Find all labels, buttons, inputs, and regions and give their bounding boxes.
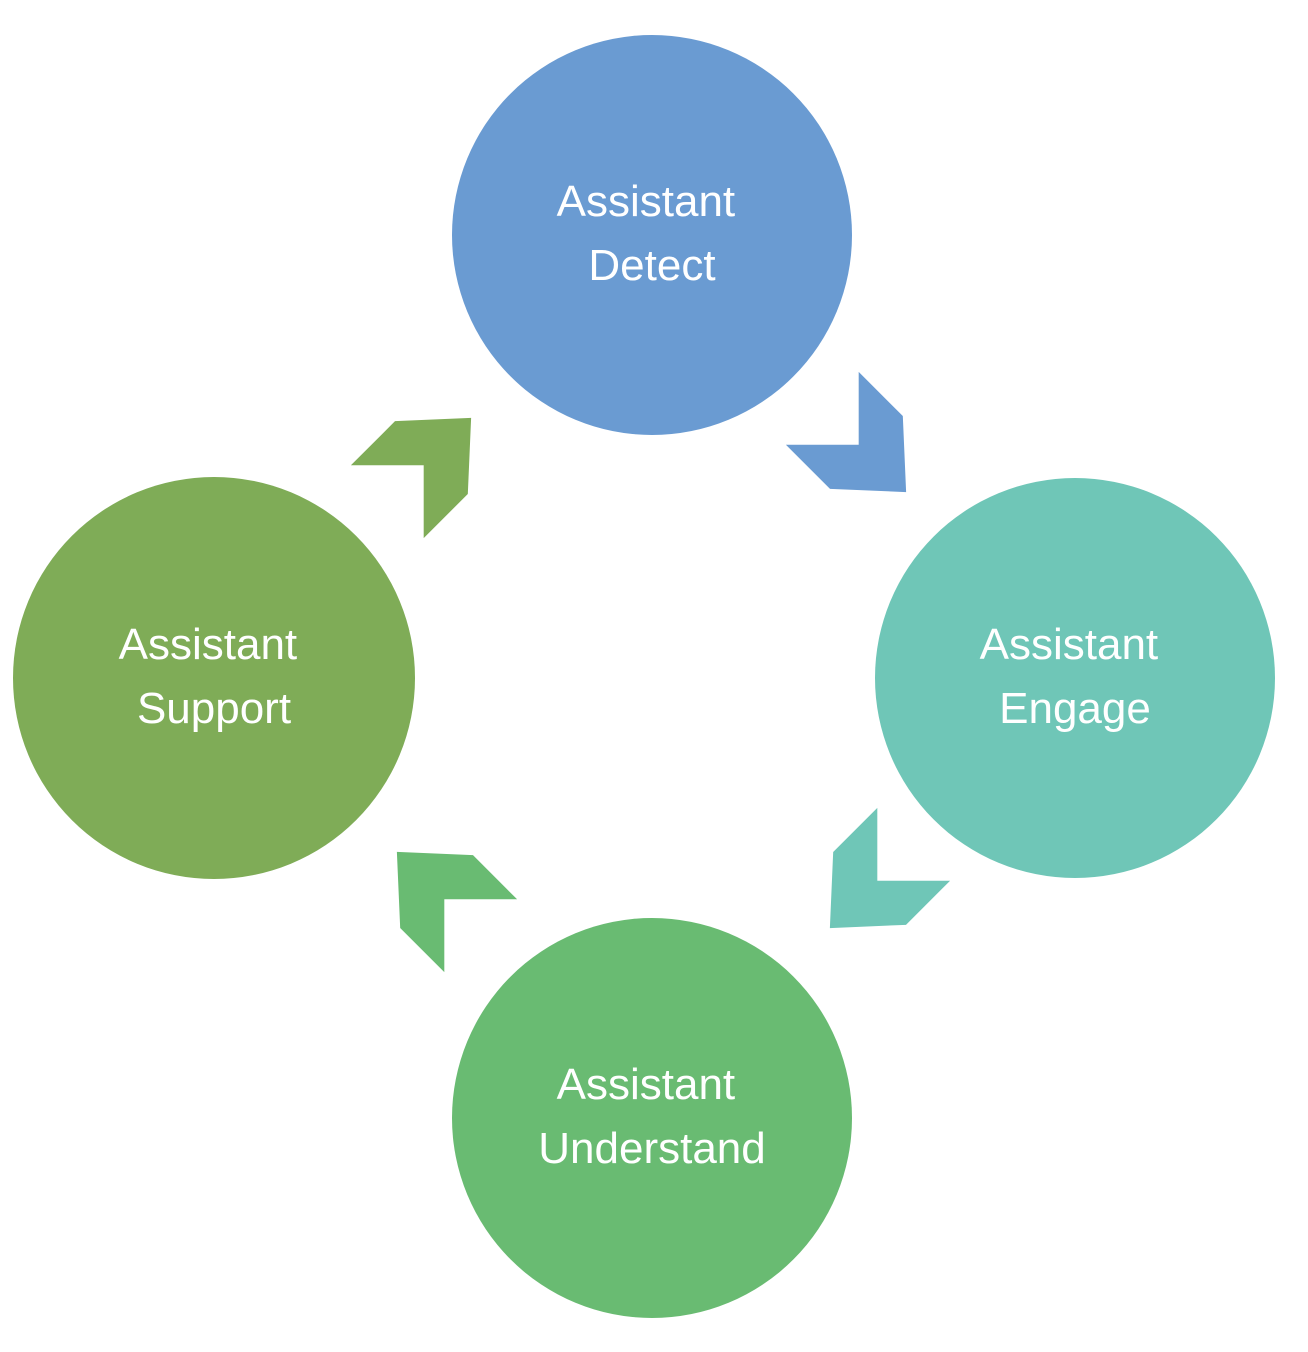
node-understand-label-line2: Understand — [538, 1124, 765, 1173]
arrow-detect-to-engage — [786, 372, 943, 529]
node-support-circle[interactable] — [13, 477, 415, 879]
arrow-support-to-detect — [351, 381, 508, 538]
arrow-group — [351, 372, 950, 972]
node-support-label-line1: Assistant — [119, 620, 298, 669]
arrow-understand-to-support-icon — [360, 815, 517, 972]
node-detect-label-line2: Detect — [588, 241, 715, 290]
arrow-engage-to-understand — [793, 808, 950, 965]
cycle-diagram-svg: Assistant Detect Assistant Engage Assist… — [0, 0, 1308, 1352]
node-support-label-line2: Support — [137, 684, 291, 733]
node-engage-circle[interactable] — [875, 478, 1275, 878]
node-understand-label-line1: Assistant — [557, 1060, 736, 1109]
arrow-engage-to-understand-icon — [793, 808, 950, 965]
node-understand-circle[interactable] — [452, 918, 852, 1318]
node-detect-circle[interactable] — [452, 35, 852, 435]
node-detect[interactable]: Assistant Detect — [452, 35, 852, 435]
node-engage-label-line2: Engage — [999, 684, 1151, 733]
cycle-diagram: Assistant Detect Assistant Engage Assist… — [0, 0, 1308, 1352]
arrow-detect-to-engage-icon — [786, 372, 943, 529]
node-support[interactable]: Assistant Support — [13, 477, 415, 879]
node-understand[interactable]: Assistant Understand — [452, 918, 852, 1318]
node-engage[interactable]: Assistant Engage — [875, 478, 1275, 878]
arrow-support-to-detect-icon — [351, 381, 508, 538]
node-engage-label-line1: Assistant — [980, 620, 1159, 669]
arrow-understand-to-support — [360, 815, 517, 972]
node-detect-label-line1: Assistant — [557, 177, 736, 226]
node-group: Assistant Detect Assistant Engage Assist… — [13, 35, 1275, 1318]
